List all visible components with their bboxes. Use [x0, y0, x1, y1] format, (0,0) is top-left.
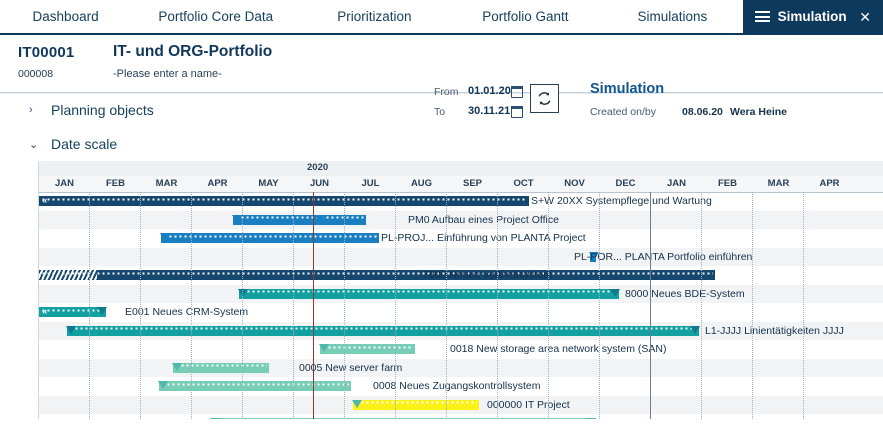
gantt-bar-0018[interactable] — [320, 344, 415, 354]
tab-simulation-label: Simulation — [778, 9, 847, 24]
gantt-bar-label: S+W 20XX Systempflege und Wartung — [531, 196, 712, 207]
gantt-bar-l1jjjj[interactable] — [67, 326, 699, 336]
gantt-bar-000000[interactable] — [353, 400, 479, 410]
gantt-bar-label: 0005 New server farm — [299, 363, 402, 374]
tab-portfolio-core-data[interactable]: Portfolio Core Data — [131, 0, 300, 33]
from-date-field[interactable]: 01.01.20 — [468, 85, 511, 97]
portfolio-sub-id: 000008 — [18, 68, 53, 80]
gantt-bar-0008[interactable] — [159, 381, 351, 391]
gridline-15 — [803, 192, 804, 419]
tab-prioritization[interactable]: Prioritization — [300, 0, 448, 33]
gridline-2 — [140, 192, 141, 419]
gantt-bar-plproj[interactable] — [161, 233, 379, 243]
gantt-bar-label: L1-JJJJ Linientätigkeiten JJJJ — [705, 326, 844, 337]
tab-simulation-active[interactable]: Simulation ✕ — [743, 0, 883, 33]
refresh-icon — [536, 90, 553, 107]
created-by-user: Wera Heine — [730, 106, 787, 118]
bar-progress-dots — [69, 327, 697, 330]
gantt-bar-sw20xx[interactable]: « — [39, 196, 529, 206]
milestone-triangle-left — [210, 418, 220, 419]
gridline-8 — [446, 192, 447, 419]
gantt-chart[interactable]: 2020 JANFEBMARAPRMAYJUNJULAUGSEPOCTNOVDE… — [38, 161, 883, 419]
month-label-apr-3: APR — [192, 178, 243, 189]
milestone-triangle-mid — [315, 215, 325, 223]
simulation-heading: Simulation — [590, 81, 664, 97]
gridline-10 — [548, 192, 549, 419]
gantt-bar-label: 000000 IT Project — [487, 400, 570, 411]
gantt-bar-label: 0018 New storage area network system (SA… — [450, 344, 667, 355]
gantt-bar-label: 0008 Neues Zugangskontrollsystem — [373, 381, 541, 392]
scroll-left-marker[interactable]: « — [42, 196, 46, 206]
month-label-oct-9: OCT — [498, 178, 549, 189]
section-planning-objects-label: Planning objects — [51, 102, 154, 118]
created-date: 08.06.20 — [682, 106, 723, 118]
month-label-jan-0: JAN — [39, 178, 90, 189]
gantt-row[interactable] — [39, 248, 883, 267]
gantt-bar-0005[interactable] — [173, 363, 269, 373]
bar-progress-dots — [322, 346, 413, 349]
month-label-apr-15: APR — [804, 178, 855, 189]
gantt-bar-e001[interactable]: « — [39, 307, 106, 317]
month-label-jan-12: JAN — [651, 178, 702, 189]
tab-simulations[interactable]: Simulations — [602, 0, 742, 33]
tab-portfolio-gantt[interactable]: Portfolio Gantt — [449, 0, 603, 33]
scroll-left-marker[interactable]: « — [42, 307, 46, 317]
gridline-14 — [752, 192, 753, 419]
portfolio-name-input[interactable]: -Please enter a name- — [113, 68, 222, 80]
bar-progress-dots — [355, 401, 477, 404]
year-label-2020: 2020 — [307, 162, 328, 173]
month-label-sep-8: SEP — [447, 178, 498, 189]
gantt-bar-label: PM0 Aufbau eines Project Office — [408, 215, 559, 226]
bar-progress-dots — [241, 290, 617, 293]
milestone-triangle-left — [352, 400, 362, 408]
gridline-13 — [701, 192, 702, 419]
gridline-6 — [344, 192, 345, 419]
section-date-scale-label: Date scale — [51, 136, 117, 152]
gantt-bar-label: PL-PROJ... Einführung von PLANTA Project — [381, 233, 586, 244]
gantt-bar-label: 7000 Neues Vertriebsystem — [423, 270, 552, 281]
created-label: Created on/by — [590, 106, 656, 118]
today-marker-line — [313, 192, 314, 419]
calendar-icon[interactable] — [511, 106, 523, 118]
gantt-row[interactable] — [39, 359, 883, 378]
month-label-nov-10: NOV — [549, 178, 600, 189]
month-label-jul-6: JUL — [345, 178, 396, 189]
gantt-bar-label: 0001 Request-Mgt-System — [609, 418, 734, 419]
to-label: To — [434, 106, 445, 118]
gridline-5 — [293, 192, 294, 419]
milestone-triangle-right — [610, 289, 620, 297]
milestone-triangle-left — [66, 326, 76, 334]
gridline-3 — [191, 192, 192, 419]
gantt-bar-label: PL-POR... PLANTA Portfolio einführen — [574, 252, 752, 263]
milestone-triangle-left — [158, 381, 168, 389]
from-label: From — [434, 86, 459, 98]
gridline-12 — [650, 192, 651, 419]
month-label-may-4: MAY — [243, 178, 294, 189]
record-header: IT00001 000008 IT- und ORG-Portfolio -Pl… — [0, 35, 883, 93]
gantt-bar-pm0[interactable] — [233, 215, 366, 225]
bar-progress-dots — [41, 309, 104, 312]
portfolio-id: IT00001 — [18, 44, 74, 61]
refresh-button[interactable] — [530, 84, 559, 113]
to-date-field[interactable]: 30.11.21 — [468, 105, 510, 117]
bar-progress-dots — [175, 364, 267, 367]
gridline-1 — [89, 192, 90, 419]
hamburger-menu-icon[interactable] — [755, 11, 770, 22]
milestone-triangle-right — [97, 307, 107, 315]
tab-bar: Dashboard Portfolio Core Data Prioritiza… — [0, 0, 883, 35]
gantt-month-header: JANFEBMARAPRMAYJUNJULAUGSEPOCTNOVDECJANF… — [38, 176, 883, 193]
gridline-7 — [395, 192, 396, 419]
gantt-rows[interactable]: «S+W 20XX Systempflege und WartungPM0 Au… — [38, 192, 883, 419]
gantt-bar-label: E001 Neues CRM-System — [125, 307, 248, 318]
milestone-triangle-left — [319, 344, 329, 352]
milestone-triangle-left — [232, 215, 242, 223]
milestone-triangle-left — [160, 233, 170, 241]
calendar-icon[interactable] — [511, 86, 523, 98]
milestone-triangle-left — [172, 363, 182, 371]
month-label-feb-1: FEB — [90, 178, 141, 189]
milestone-triangle-left — [238, 289, 248, 297]
month-label-feb-13: FEB — [702, 178, 753, 189]
gantt-bar-0001[interactable] — [211, 418, 595, 419]
close-icon[interactable]: ✕ — [859, 10, 871, 24]
milestone-triangle-right — [586, 418, 596, 419]
bar-progress-dots — [41, 198, 527, 201]
month-label-dec-11: DEC — [600, 178, 651, 189]
milestone-triangle-right — [690, 326, 700, 334]
gridline-9 — [497, 192, 498, 419]
gantt-year-header: 2020 — [38, 161, 883, 177]
gantt-bar-8000[interactable] — [239, 289, 619, 299]
tab-dashboard[interactable]: Dashboard — [0, 0, 131, 33]
month-label-jun-5: JUN — [294, 178, 345, 189]
gantt-bar-label: 8000 Neues BDE-System — [625, 289, 745, 300]
section-date-scale[interactable]: ⌄ Date scale — [0, 127, 883, 161]
gridline-4 — [242, 192, 243, 419]
portfolio-title: IT- und ORG-Portfolio — [113, 43, 272, 61]
month-label-mar-2: MAR — [141, 178, 192, 189]
chevron-down-icon[interactable]: ⌄ — [29, 138, 37, 151]
bar-progress-dots — [41, 272, 713, 275]
month-label-mar-14: MAR — [753, 178, 804, 189]
month-label-aug-7: AUG — [396, 178, 447, 189]
bar-progress-dots — [161, 383, 349, 386]
chevron-right-icon[interactable]: › — [29, 104, 37, 116]
gridline-11 — [599, 192, 600, 419]
